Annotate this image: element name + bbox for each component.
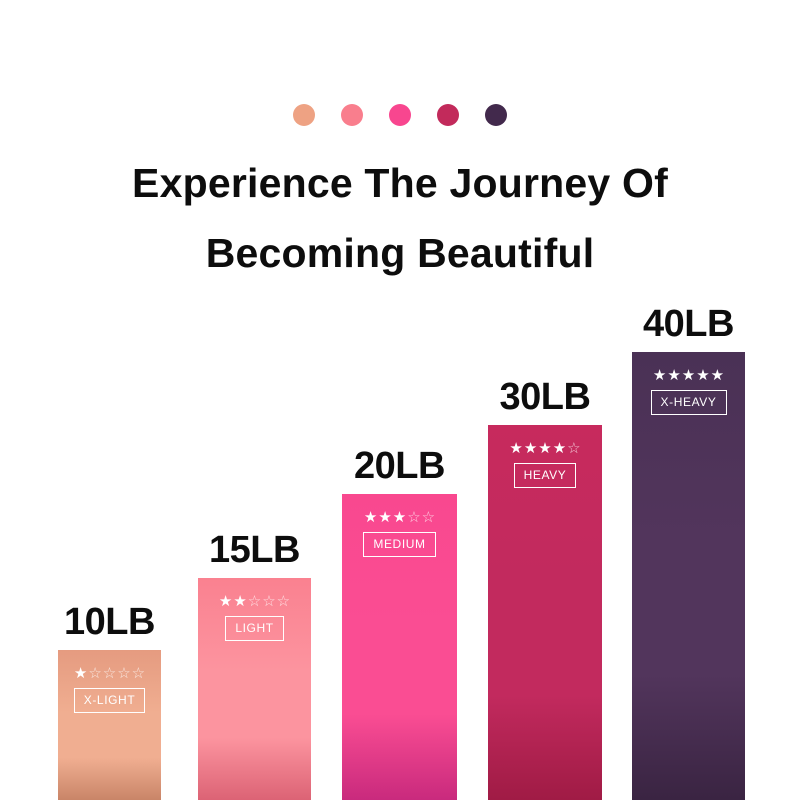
- star-filled-icon: ★: [667, 368, 680, 383]
- bar-x-light[interactable]: ★☆☆☆☆X-LIGHT: [58, 650, 161, 800]
- bar-group-x-heavy: 40LB★★★★★X-HEAVY: [632, 296, 745, 800]
- star-filled-icon: ★: [378, 510, 391, 525]
- bar-content: ★☆☆☆☆X-LIGHT: [58, 666, 161, 713]
- star-empty-icon: ☆: [407, 510, 420, 525]
- star-empty-icon: ☆: [262, 594, 275, 609]
- bar-group-heavy: 30LB★★★★☆HEAVY: [488, 369, 602, 800]
- star-filled-icon: ★: [553, 441, 566, 456]
- bar-medium[interactable]: ★★★☆☆MEDIUM: [342, 494, 457, 800]
- star-empty-icon: ☆: [88, 666, 101, 681]
- bar-content: ★★★★☆HEAVY: [488, 441, 602, 488]
- star-filled-icon: ★: [696, 368, 709, 383]
- bar-content: ★★★★★X-HEAVY: [632, 368, 745, 415]
- level-badge: LIGHT: [225, 616, 283, 641]
- bar-weight-label: 30LB: [500, 376, 591, 419]
- star-filled-icon: ★: [393, 510, 406, 525]
- star-filled-icon: ★: [711, 368, 724, 383]
- star-empty-icon: ☆: [422, 510, 435, 525]
- bar-weight-label: 15LB: [209, 529, 300, 572]
- star-empty-icon: ☆: [567, 441, 580, 456]
- bar-content: ★★★☆☆MEDIUM: [342, 510, 457, 557]
- star-empty-icon: ☆: [248, 594, 261, 609]
- star-filled-icon: ★: [364, 510, 377, 525]
- star-filled-icon: ★: [682, 368, 695, 383]
- level-badge: X-HEAVY: [651, 390, 727, 415]
- star-filled-icon: ★: [74, 666, 87, 681]
- resistance-band-infographic: Experience The Journey Of Becoming Beaut…: [0, 0, 800, 800]
- star-rating: ★☆☆☆☆: [74, 666, 145, 681]
- bar-group-medium: 20LB★★★☆☆MEDIUM: [342, 438, 457, 800]
- star-rating: ★★★★☆: [509, 441, 580, 456]
- star-rating: ★★★★★: [653, 368, 724, 383]
- star-filled-icon: ★: [509, 441, 522, 456]
- bar-content: ★★☆☆☆LIGHT: [198, 594, 311, 641]
- star-rating: ★★★☆☆: [364, 510, 435, 525]
- star-filled-icon: ★: [524, 441, 537, 456]
- bar-group-light: 15LB★★☆☆☆LIGHT: [198, 522, 311, 800]
- bar-chart: 10LB★☆☆☆☆X-LIGHT15LB★★☆☆☆LIGHT20LB★★★☆☆M…: [0, 0, 800, 800]
- star-rating: ★★☆☆☆: [219, 594, 290, 609]
- star-filled-icon: ★: [233, 594, 246, 609]
- star-empty-icon: ☆: [132, 666, 145, 681]
- bar-weight-label: 10LB: [64, 601, 155, 644]
- star-filled-icon: ★: [538, 441, 551, 456]
- star-filled-icon: ★: [653, 368, 666, 383]
- bar-weight-label: 40LB: [643, 303, 734, 346]
- star-empty-icon: ☆: [117, 666, 130, 681]
- level-badge: HEAVY: [514, 463, 577, 488]
- star-empty-icon: ☆: [103, 666, 116, 681]
- bar-group-x-light: 10LB★☆☆☆☆X-LIGHT: [58, 594, 161, 800]
- bar-weight-label: 20LB: [354, 445, 445, 488]
- level-badge: X-LIGHT: [74, 688, 146, 713]
- bar-heavy[interactable]: ★★★★☆HEAVY: [488, 425, 602, 800]
- bar-x-heavy[interactable]: ★★★★★X-HEAVY: [632, 352, 745, 800]
- bar-light[interactable]: ★★☆☆☆LIGHT: [198, 578, 311, 800]
- level-badge: MEDIUM: [363, 532, 435, 557]
- star-filled-icon: ★: [219, 594, 232, 609]
- star-empty-icon: ☆: [277, 594, 290, 609]
